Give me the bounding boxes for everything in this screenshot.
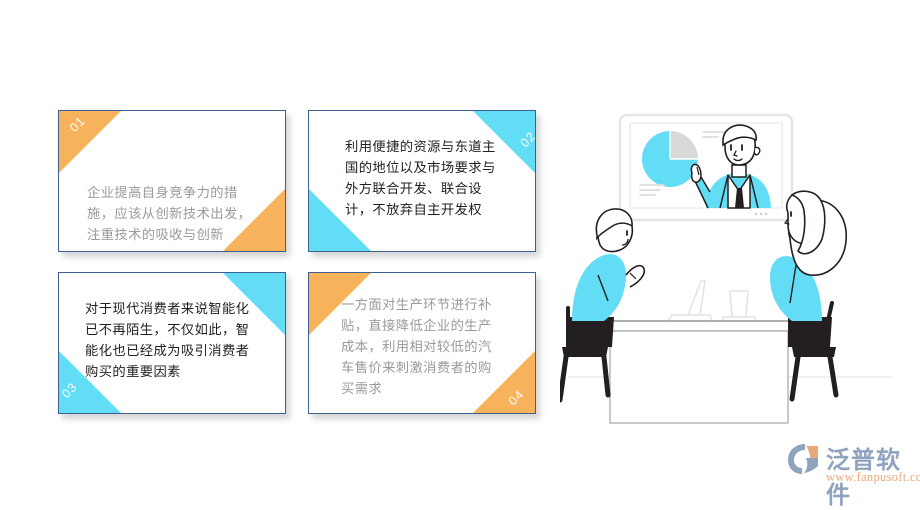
card-text-01: 企业提高自身竞争力的措施，应该从创新技术出发，注重技术的吸收与创新 bbox=[87, 183, 255, 246]
card-text-04: 一方面对生产环节进行补贴，直接降低企业的生产成本，利用相对较低的汽车售价来刺激消… bbox=[341, 295, 501, 400]
presentation-screen bbox=[620, 115, 792, 220]
info-card-01[interactable]: 01 企业提高自身竞争力的措施，应该从创新技术出发，注重技术的吸收与创新 bbox=[58, 110, 286, 252]
info-card-03[interactable]: 03 对于现代消费者来说智能化已不再陌生，不仅如此，智能化也已经成为吸引消费者购… bbox=[58, 272, 286, 414]
info-card-04[interactable]: 04 一方面对生产环节进行补贴，直接降低企业的生产成本，利用相对较低的汽车售价来… bbox=[308, 272, 536, 414]
logo-url-text: www.fanpusoft.com bbox=[826, 470, 920, 485]
card-text-03: 对于现代消费者来说智能化已不再陌生，不仅如此，智能化也已经成为吸引消费者购买的重… bbox=[85, 299, 253, 383]
card-text-02: 利用便捷的资源与东道主国的地位以及市场要求与外方联合开发、联合设计，不放弃自主开… bbox=[345, 137, 497, 221]
fanpu-logo-icon bbox=[786, 442, 824, 476]
video-conference-illustration bbox=[560, 95, 900, 425]
pie-chart bbox=[642, 131, 698, 187]
slide-canvas: 01 企业提高自身竞争力的措施，应该从创新技术出发，注重技术的吸收与创新 02 … bbox=[0, 0, 920, 500]
desk-items bbox=[668, 281, 756, 322]
corner-triangle-orange-top-left bbox=[59, 111, 121, 173]
meeting-table bbox=[604, 281, 794, 423]
info-card-02[interactable]: 02 利用便捷的资源与东道主国的地位以及市场要求与外方联合开发、联合设计，不放弃… bbox=[308, 110, 536, 252]
brand-logo[interactable]: 泛普软件 www.fanpusoft.com bbox=[786, 440, 916, 492]
